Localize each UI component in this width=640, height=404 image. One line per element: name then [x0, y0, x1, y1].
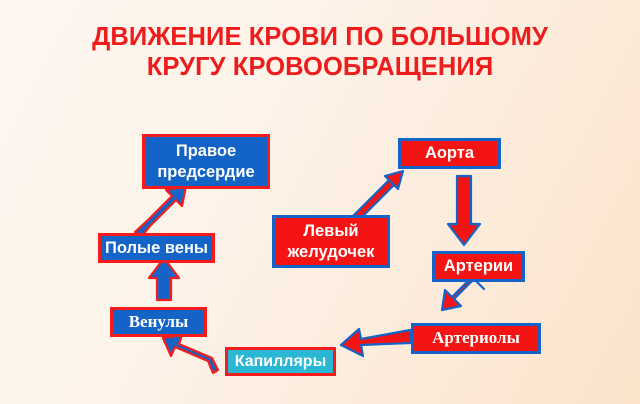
node-left-ventricle[interactable]: Левый желудочек — [272, 215, 390, 268]
node-arteries[interactable]: Артерии — [432, 251, 525, 282]
slide-canvas: ДВИЖЕНИЕ КРОВИ ПО БОЛЬШОМУ КРУГУ КРОВООБ… — [0, 0, 640, 404]
node-right-atrium[interactable]: Правое предсердие — [142, 134, 270, 189]
node-right-atrium-label: Правое предсердие — [145, 141, 267, 181]
node-capillaries-label: Капилляры — [228, 352, 333, 372]
node-vena-cava[interactable]: Полые вены — [98, 233, 215, 263]
node-capillaries[interactable]: Капилляры — [225, 347, 336, 376]
node-venules-label: Венулы — [113, 312, 204, 333]
arrow-venules-to-vena-cava — [149, 258, 179, 300]
node-aorta-label: Аорта — [401, 143, 498, 163]
arrow-aorta-to-arteries — [448, 176, 480, 245]
node-venules[interactable]: Венулы — [110, 307, 207, 337]
node-left-ventricle-label: Левый желудочек — [275, 221, 387, 261]
arrow-layer — [0, 0, 640, 404]
node-arterioles[interactable]: Артериолы — [411, 323, 541, 354]
node-aorta[interactable]: Аорта — [398, 138, 501, 169]
node-arterioles-label: Артериолы — [414, 328, 538, 349]
arrow-arterioles-to-capillaries — [341, 329, 410, 356]
arrow-vena-cava-to-right-atrium — [135, 186, 186, 237]
node-arteries-label: Артерии — [435, 256, 522, 276]
node-vena-cava-label: Полые вены — [101, 238, 212, 258]
arrow-capillaries-to-venules — [163, 335, 218, 373]
